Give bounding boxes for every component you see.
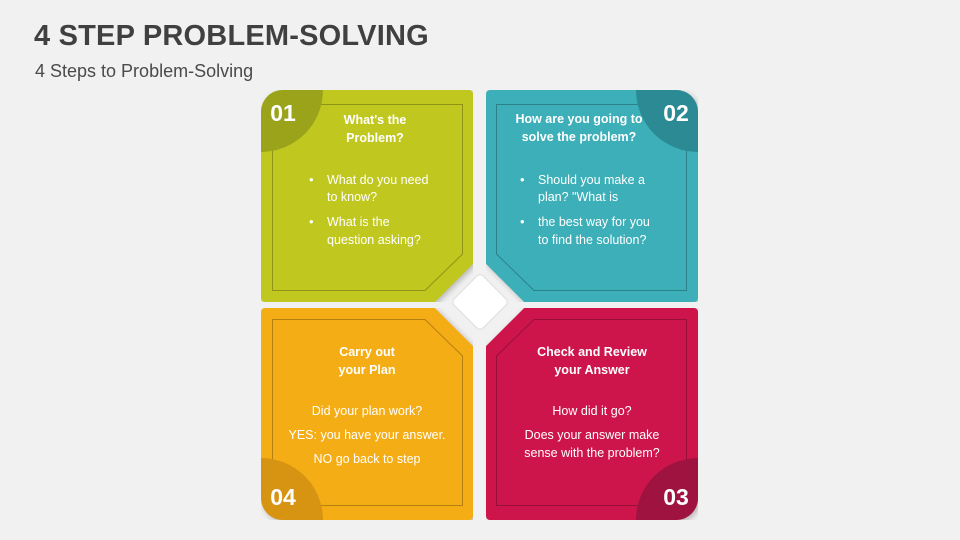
heading-line-1: What's the — [307, 112, 443, 130]
quadrant-heading: What's the Problem? — [307, 112, 443, 148]
list-item: What do you need to know? — [307, 172, 439, 208]
page-subtitle: 4 Steps to Problem-Solving — [35, 61, 253, 82]
step-number: 03 — [663, 486, 689, 509]
text-line: YES: you have your answer. — [283, 426, 451, 444]
text-line: Does your answer make sense with the pro… — [508, 426, 676, 462]
list-item: the best way for you to find the solutio… — [518, 214, 652, 250]
heading-line-2: Problem? — [307, 130, 443, 148]
heading-line-1: Check and Review — [508, 344, 676, 362]
quadrant-content: Check and Review your Answer How did it … — [486, 344, 698, 468]
quadrant-content: How are you going to solve the problem? … — [486, 111, 698, 257]
quadrant-heading: How are you going to solve the problem? — [506, 111, 652, 147]
text-line: Did your plan work? — [283, 402, 451, 420]
quadrant-step-04[interactable]: 04 Carry out your Plan Did your plan wor… — [261, 308, 473, 520]
quadrant-step-03[interactable]: 03 Check and Review your Answer How did … — [486, 308, 698, 520]
quadrant-step-01[interactable]: 01 What's the Problem? What do you need … — [261, 90, 473, 302]
list-item: What is the question asking? — [307, 214, 439, 250]
list-item: Should you make a plan? "What is — [518, 172, 652, 208]
quadrant-heading: Carry out your Plan — [283, 344, 451, 380]
quadrant-bullet-list: Should you make a plan? "What is the bes… — [518, 172, 652, 250]
text-line: NO go back to step — [283, 450, 451, 468]
quadrant-step-02[interactable]: 02 How are you going to solve the proble… — [486, 90, 698, 302]
heading-line-1: How are you going to — [506, 111, 652, 129]
page-title: 4 STEP PROBLEM-SOLVING — [34, 20, 429, 53]
heading-line-2: your Answer — [508, 362, 676, 380]
quadrant-text-lines: How did it go? Does your answer make sen… — [508, 402, 676, 462]
quadrant-text-lines: Did your plan work? YES: you have your a… — [283, 402, 451, 468]
text-line: How did it go? — [508, 402, 676, 420]
four-step-diagram: 01 What's the Problem? What do you need … — [261, 90, 698, 520]
quadrant-heading: Check and Review your Answer — [508, 344, 676, 380]
heading-line-2: your Plan — [283, 362, 451, 380]
heading-line-1: Carry out — [283, 344, 451, 362]
quadrant-content: Carry out your Plan Did your plan work? … — [261, 344, 473, 474]
heading-line-2: solve the problem? — [506, 129, 652, 147]
step-number: 04 — [270, 486, 296, 509]
quadrant-bullet-list: What do you need to know? What is the qu… — [307, 172, 443, 250]
quadrant-content: What's the Problem? What do you need to … — [261, 112, 473, 257]
